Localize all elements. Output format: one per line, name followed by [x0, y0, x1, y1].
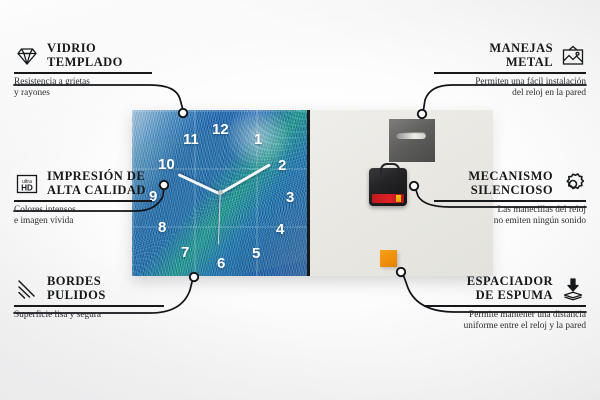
foam-spacer [380, 250, 397, 267]
callout-rule [434, 72, 586, 74]
clock-numeral-6: 6 [217, 256, 225, 271]
foam-spacer-icon [560, 276, 586, 302]
mechanism-battery [372, 194, 404, 203]
callout-header: MECANISMO SILENCIOSO [434, 170, 586, 197]
clock-numeral-2: 2 [278, 158, 286, 173]
clock-numeral-12: 12 [212, 122, 229, 137]
callout-description: Resistencia a grietas y rayones [14, 77, 152, 100]
callout-description: Superficie lisa y segura [14, 310, 164, 322]
clock-numeral-3: 3 [286, 190, 294, 205]
gear-icon [560, 171, 586, 197]
callout-header: VIDRIO TEMPLADO [14, 42, 152, 69]
callout-header: ultra HD IMPRESIÓN DE ALTA CALIDAD [14, 170, 152, 197]
metal-hanger-plate [389, 119, 435, 162]
callout-rule [424, 305, 586, 307]
callout-espaciador-espuma: ESPACIADOR DE ESPUMA Permite mantener un… [424, 275, 586, 333]
callout-description: Permiten una fácil instalación del reloj… [434, 77, 586, 100]
clock-numeral-8: 8 [158, 220, 166, 235]
picture-frame-icon [560, 43, 586, 69]
callout-description: Las manecillas del reloj no emiten ningú… [434, 205, 586, 228]
callout-title: VIDRIO TEMPLADO [47, 42, 123, 69]
callout-title: BORDES PULIDOS [47, 275, 106, 302]
callout-impresion-alta-calidad: ultra HD IMPRESIÓN DE ALTA CALIDAD Color… [14, 170, 152, 228]
diamond-icon [14, 43, 40, 69]
callout-title: IMPRESIÓN DE ALTA CALIDAD [47, 170, 146, 197]
clock-numeral-11: 11 [183, 132, 199, 147]
ultra-hd-icon: ultra HD [14, 171, 40, 197]
infographic-canvas: 12 1 2 3 4 5 6 7 8 9 10 11 [0, 0, 600, 400]
callout-title: MANEJAS METAL [489, 42, 553, 69]
clock-numeral-1: 1 [254, 132, 262, 147]
clock-numeral-10: 10 [158, 157, 175, 172]
clock-face-front: 12 1 2 3 4 5 6 7 8 9 10 11 [132, 110, 307, 276]
clock-center-hub [218, 190, 223, 195]
callout-header: MANEJAS METAL [434, 42, 586, 69]
clock-mechanism [369, 168, 407, 206]
clock-numeral-7: 7 [181, 245, 189, 260]
callout-description: Permite mantener una distancia uniforme … [424, 310, 586, 333]
clock-numeral-5: 5 [252, 246, 260, 261]
hanger-slot [396, 132, 426, 139]
polished-edges-icon [14, 276, 40, 302]
clock-numeral-4: 4 [276, 222, 284, 237]
callout-header: ESPACIADOR DE ESPUMA [424, 275, 586, 302]
callout-title: ESPACIADOR DE ESPUMA [467, 275, 553, 302]
callout-rule [14, 305, 164, 307]
svg-text:HD: HD [21, 183, 33, 192]
callout-manejas-metal: MANEJAS METAL Permiten una fácil instala… [434, 42, 586, 100]
callout-description: Colores intensos e imagen vívida [14, 205, 152, 228]
mechanism-hanging-loop [380, 163, 400, 173]
callout-vidrio-templado: VIDRIO TEMPLADO Resistencia a grietas y … [14, 42, 152, 100]
callout-mecanismo-silencioso: MECANISMO SILENCIOSO Las manecillas del … [434, 170, 586, 228]
callout-bordes-pulidos: BORDES PULIDOS Superficie lisa y segura [14, 275, 164, 321]
callout-header: BORDES PULIDOS [14, 275, 164, 302]
callout-rule [14, 200, 152, 202]
callout-rule [14, 72, 152, 74]
callout-title: MECANISMO SILENCIOSO [468, 170, 553, 197]
callout-rule [434, 200, 586, 202]
